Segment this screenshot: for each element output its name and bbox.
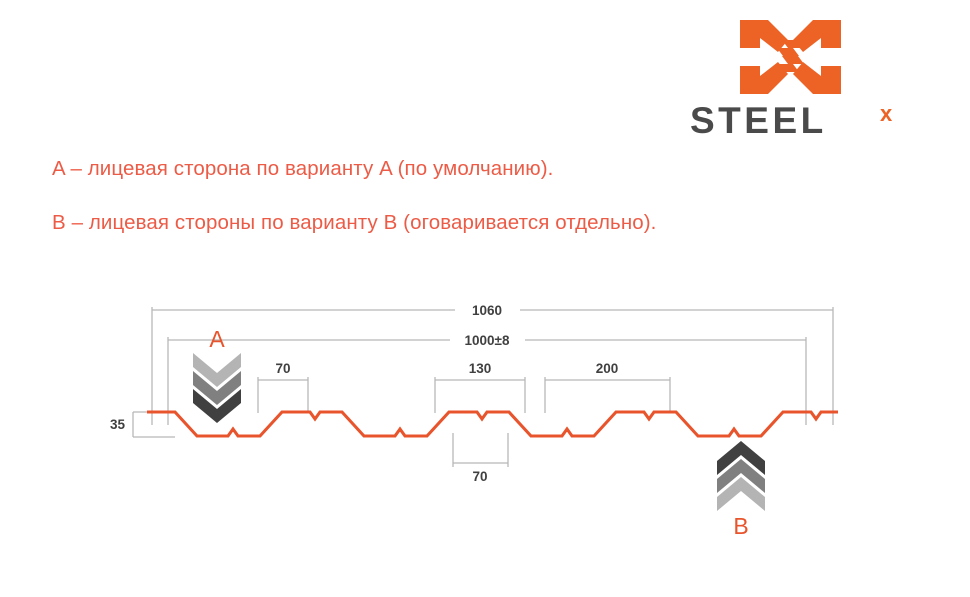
marker-label-b: B: [733, 513, 748, 539]
legend-notes: A – лицевая сторона по варианту A (по ум…: [52, 156, 812, 236]
wordmark-text: STEEL: [690, 100, 827, 141]
chevron-down-icon: [193, 353, 241, 423]
dimension-label-valley-width: 70: [472, 469, 487, 484]
dimension-rib-height: 35: [110, 412, 175, 437]
dimension-valley-width: 70: [453, 433, 508, 484]
profile-spec-page: STEEL x A – лицевая сторона по варианту …: [0, 0, 970, 597]
dimension-label-pitch: 200: [596, 361, 619, 376]
marker-label-a: A: [209, 326, 225, 352]
dimension-label-crest-width: 70: [275, 361, 290, 376]
dimension-rib-spacing: 130: [435, 361, 525, 413]
dimension-label-rib-spacing: 130: [469, 361, 492, 376]
dimension-label-working-width: 1000±8: [465, 333, 510, 348]
note-variant-b: B – лицевая стороны по варианту B (огова…: [52, 210, 812, 236]
steelx-logo: STEEL x: [690, 18, 920, 143]
steelx-wordmark: STEEL x: [690, 100, 920, 142]
wordmark-suffix-text: x: [880, 101, 893, 126]
steelx-x-icon: [738, 18, 843, 96]
marker-side-b: B: [717, 441, 765, 539]
dimension-overall-width: 1060: [152, 303, 833, 425]
dimension-label-rib-height: 35: [110, 417, 126, 432]
chevron-up-icon: [717, 441, 765, 511]
dimension-pitch: 200: [545, 361, 670, 413]
technical-drawing: 1060 1000±8 70 130: [0, 285, 970, 555]
note-variant-a: A – лицевая сторона по варианту A (по ум…: [52, 156, 812, 182]
sheet-profile-path: [147, 412, 838, 436]
dimension-label-overall-width: 1060: [472, 303, 502, 318]
dimension-crest-width: 70: [258, 361, 308, 413]
